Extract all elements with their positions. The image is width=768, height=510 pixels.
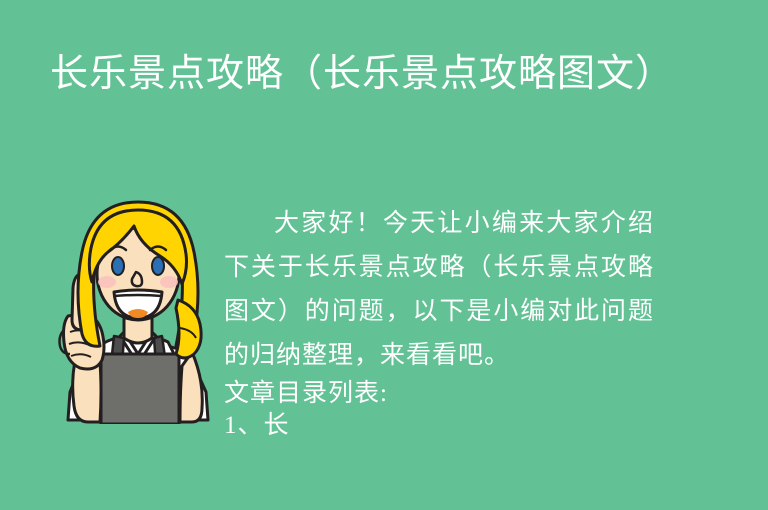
page-title: 长乐景点攻略（长乐景点攻略图文） [50, 48, 690, 100]
cartoon-girl-illustration [56, 196, 236, 424]
cartoon-girl-pointing-up-icon [56, 196, 236, 424]
toc-heading: 文章目录列表: [224, 378, 654, 410]
article-body: 大家好！今天让小编来大家介绍下关于长乐景点攻略（长乐景点攻略图文）的问题，以下是… [224, 202, 654, 442]
article-page: 长乐景点攻略（长乐景点攻略图文） [0, 0, 768, 510]
toc-item: 1、长 [224, 410, 654, 442]
page-title-block: 长乐景点攻略（长乐景点攻略图文） [50, 48, 690, 100]
intro-paragraph: 大家好！今天让小编来大家介绍下关于长乐景点攻略（长乐景点攻略图文）的问题，以下是… [224, 202, 654, 378]
